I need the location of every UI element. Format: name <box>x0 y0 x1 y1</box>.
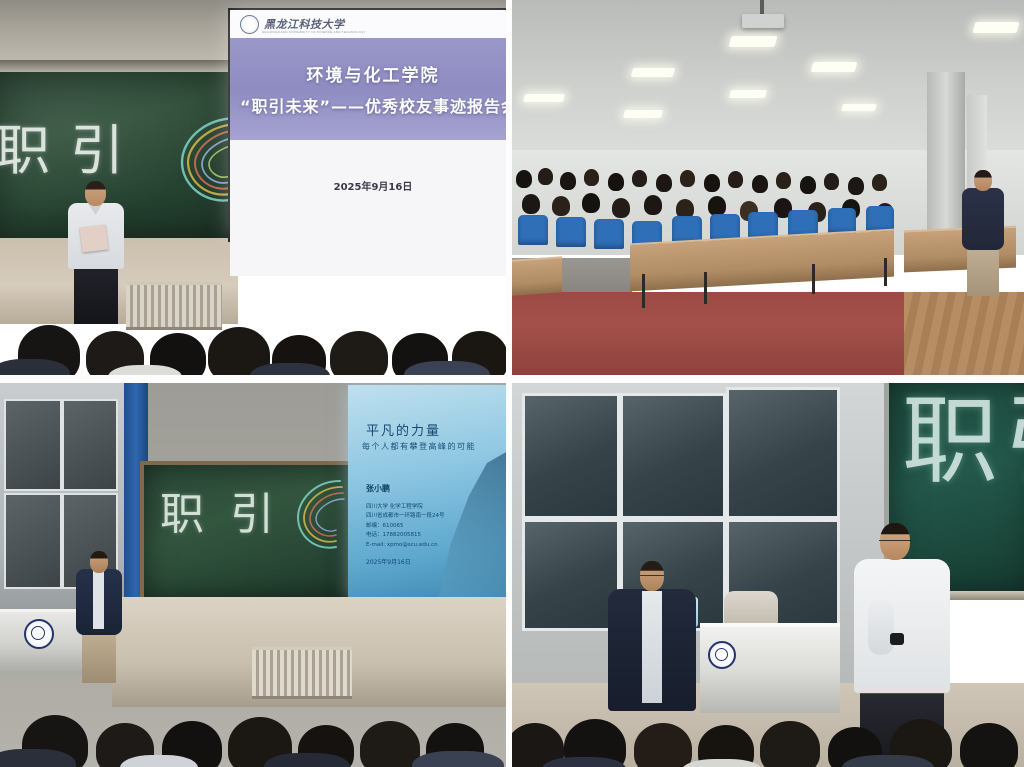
collage-gutter-vertical <box>506 0 512 767</box>
window-pane <box>522 393 620 519</box>
speaker-legs <box>967 248 999 296</box>
university-seal-icon <box>24 619 54 649</box>
slide-email: E-mail: xpmo@scu.edu.cn <box>366 541 445 550</box>
university-seal-icon <box>708 641 736 669</box>
window-pane <box>4 399 62 491</box>
window-pane <box>4 493 62 589</box>
photo-panel-bottom-right: 职引 <box>512 383 1024 767</box>
collage-gutter-horizontal <box>0 375 1024 383</box>
ceiling-light <box>728 36 777 47</box>
radiator <box>126 282 222 330</box>
slide-contact-block: 四川大学 化学工程学院 四川省成都市一环路南一段24号 邮编：610065 电话… <box>366 503 445 550</box>
presenter-legs <box>82 633 116 683</box>
ceiling-light <box>811 62 858 72</box>
ceiling-light <box>523 94 565 102</box>
window-pane <box>620 393 726 519</box>
projector-screen: 黑龙江科技大学 HEILONGJIANG UNIVERSITY OF SCIEN… <box>230 10 506 238</box>
window-pane <box>62 399 118 491</box>
ceiling-light <box>972 22 1019 33</box>
presenter-shirt <box>93 571 104 629</box>
ceiling-light <box>631 68 676 77</box>
smartwatch-icon <box>890 633 904 645</box>
window-pane <box>726 387 840 519</box>
photo-panel-top-left: 职引 黑龙 <box>0 0 506 375</box>
auditorium-seat <box>556 217 586 247</box>
speaker-left-shirt <box>642 591 662 703</box>
blackboard-chalk-text: 职引 <box>902 393 1024 489</box>
presenter-head <box>90 551 108 573</box>
speaker-right-arm <box>868 599 894 655</box>
slide-header: 黑龙江科技大学 HEILONGJIANG UNIVERSITY OF SCIEN… <box>230 10 506 38</box>
ceiling-projector <box>742 14 784 28</box>
slide-date: 2025年9月16日 <box>366 557 411 566</box>
lecture-desk-row <box>512 256 562 295</box>
chalk-spiral-drawing <box>290 473 352 557</box>
slide-title-band: 环境与化工学院 “职引未来”——优秀校友事迹报告会 <box>230 38 506 140</box>
ceiling-light <box>729 90 767 98</box>
blackboard-chalk-text: 职引 <box>160 493 300 537</box>
presenter-paper <box>80 225 109 253</box>
slide-affiliation-2: 四川省成都市一环路南一段24号 <box>366 512 445 521</box>
speaker-right-glasses-icon <box>879 540 911 547</box>
slide-phone: 电话：17882005815 <box>366 531 445 540</box>
speaker-torso <box>962 188 1004 250</box>
slide-title: 平凡的力量 <box>366 420 441 439</box>
projector-screen: 平凡的力量 每个人都有攀登高峰的可能 张小鹏 四川大学 化学工程学院 四川省成都… <box>348 385 506 601</box>
photo-panel-top-right <box>512 0 1024 375</box>
radiator <box>252 647 352 699</box>
photo-collage: 职引 黑龙 <box>0 0 1024 767</box>
window-pane <box>522 519 620 631</box>
slide-subtitle: 每个人都有攀登高峰的可能 <box>362 441 476 452</box>
slide-mountain-art <box>438 451 506 601</box>
presenter-head <box>85 181 106 206</box>
ceiling-light <box>841 104 877 111</box>
auditorium-seat <box>518 215 548 245</box>
university-name-english: HEILONGJIANG UNIVERSITY OF SCIENCE AND T… <box>262 30 366 34</box>
speaker-left-glasses-icon <box>640 575 664 581</box>
auditorium-seat <box>594 219 624 249</box>
slide-date: 2025年9月16日 <box>334 178 413 276</box>
projector-mount <box>760 0 764 15</box>
slide-event-title: “职引未来”——优秀校友事迹报告会 <box>240 93 506 117</box>
wood-floor <box>904 292 1024 375</box>
slide-postcode: 邮编：610065 <box>366 522 445 531</box>
slide-college-name: 环境与化工学院 <box>307 61 440 86</box>
photo-panel-bottom-left: 职引 平凡的力量 每个人都有攀登高峰的可能 张小鹏 四川大学 化学工程学院 四川… <box>0 383 506 767</box>
slide-footer: 2025年9月16日 <box>230 140 506 276</box>
speaker-head <box>974 170 992 191</box>
slide-affiliation-1: 四川大学 化学工程学院 <box>366 503 445 512</box>
university-seal-icon <box>240 15 259 34</box>
presenter-legs <box>74 266 118 324</box>
blackboard-chalk-text: 职引 <box>0 124 144 178</box>
ceiling-light <box>623 110 663 118</box>
slide-speaker-name: 张小鹏 <box>366 483 390 494</box>
